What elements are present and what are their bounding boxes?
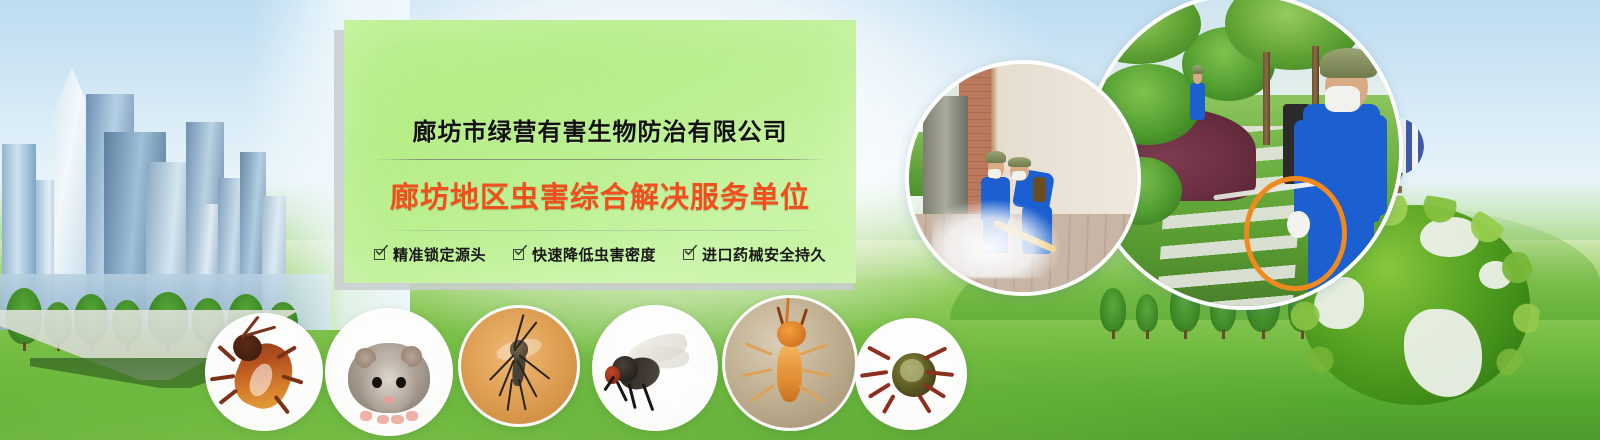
slogan-text: 廊坊地区虫害综合解决服务单位 <box>368 174 832 216</box>
mosquito-photo <box>458 305 580 427</box>
fly-photo <box>592 305 718 431</box>
cockroach-photo <box>205 313 323 431</box>
feature-item-2: 快速降低虫害密度 <box>513 244 656 265</box>
feature-label-3: 进口药械安全持久 <box>702 244 826 265</box>
feature-item-1: 精准锁定源头 <box>374 244 486 265</box>
checkbox-check-icon <box>683 248 696 261</box>
termite-photo <box>722 295 858 431</box>
pest-control-hero-banner: 廊坊市绿营有害生物防治有限公司 廊坊地区虫害综合解决服务单位 精准锁定源头 <box>0 0 1600 440</box>
divider-top <box>376 159 824 160</box>
feature-label-1: 精准锁定源头 <box>393 244 486 265</box>
spray-hose <box>1244 176 1347 291</box>
feature-list: 精准锁定源头 快速降低虫害密度 <box>374 244 826 265</box>
fog-cloud <box>932 201 1060 279</box>
background-worker <box>1185 64 1210 120</box>
checkbox-check-icon <box>513 248 526 261</box>
feature-label-2: 快速降低虫害密度 <box>532 244 656 265</box>
headline-panel: 廊坊市绿营有害生物防治有限公司 廊坊地区虫害综合解决服务单位 精准锁定源头 <box>344 20 856 283</box>
tick-photo <box>855 318 967 430</box>
feature-item-3: 进口药械安全持久 <box>683 244 826 265</box>
checkbox-check-icon <box>374 248 387 261</box>
fogging-operation-photo <box>905 60 1141 296</box>
divider-bottom <box>376 230 824 231</box>
rodent-photo <box>325 308 453 436</box>
company-name: 廊坊市绿营有害生物防治有限公司 <box>368 112 832 147</box>
